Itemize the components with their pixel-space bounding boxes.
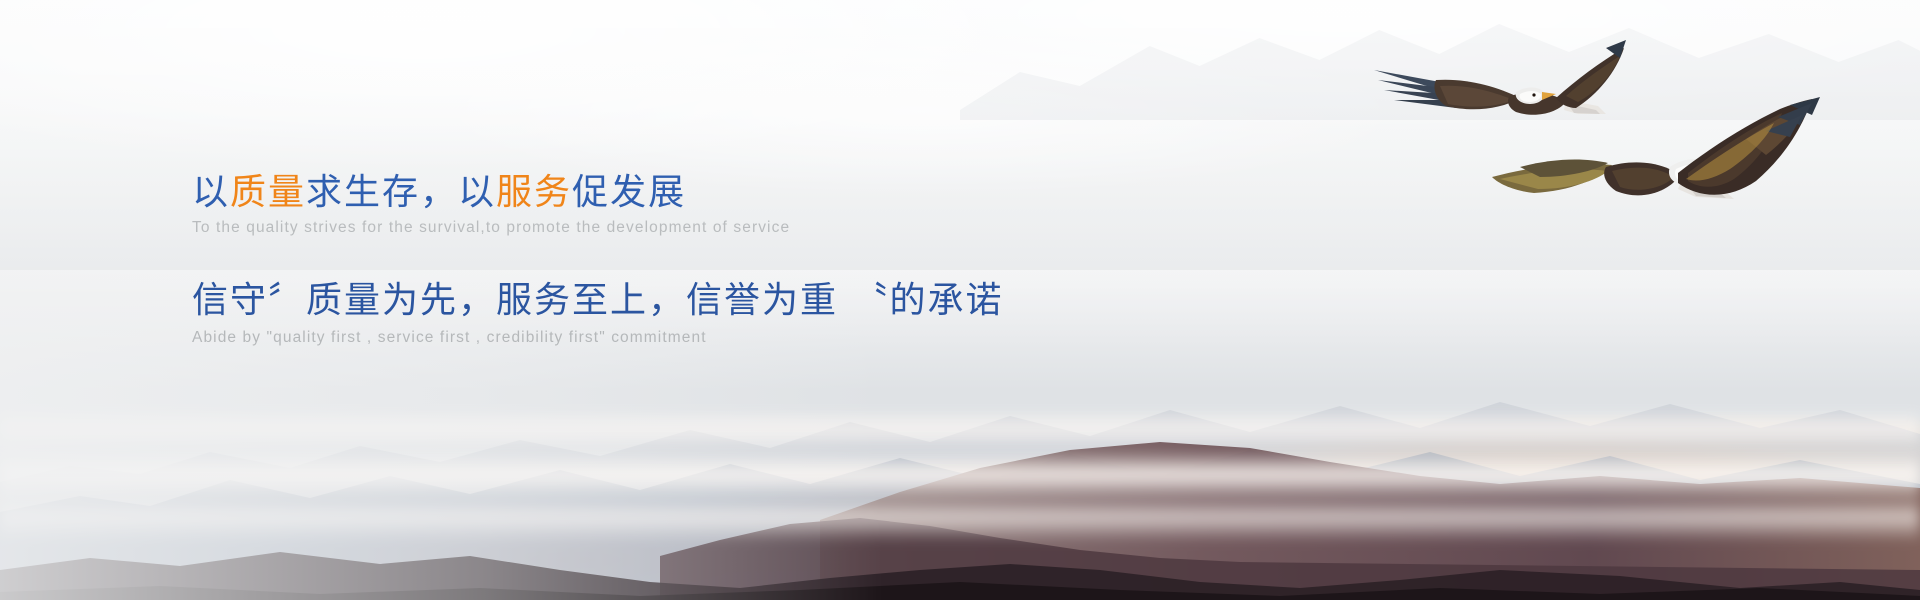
slogan-line-1-part-1: 以 [192, 172, 230, 213]
slogan-line-1-accent-2: 服务 [496, 172, 572, 213]
hero-banner: 以质量求生存，以服务促发展 To the quality strives for… [0, 0, 1920, 600]
slogan-line-1-part-3: 促发展 [572, 172, 686, 213]
slogan-block: 以质量求生存，以服务促发展 To the quality strives for… [192, 172, 1092, 347]
eagle-group [1360, 0, 1920, 280]
slogan-line-2-subtitle: Abide by "quality first , service first … [192, 329, 1092, 347]
eagle-icon [1490, 95, 1850, 270]
slogan-line-1-subtitle: To the quality strives for the survival,… [192, 219, 1092, 237]
slogan-line-1-accent-1: 质量 [230, 172, 306, 213]
slogan-line-2: 信守〞质量为先，服务至上，信誉为重 〝的承诺 [192, 271, 1092, 323]
slogan-line-1-part-2: 求生存，以 [306, 172, 496, 213]
slogan-line-1: 以质量求生存，以服务促发展 [192, 172, 1092, 213]
slogan-block-2: 信守〞质量为先，服务至上，信誉为重 〝的承诺 Abide by "quality… [192, 271, 1092, 347]
